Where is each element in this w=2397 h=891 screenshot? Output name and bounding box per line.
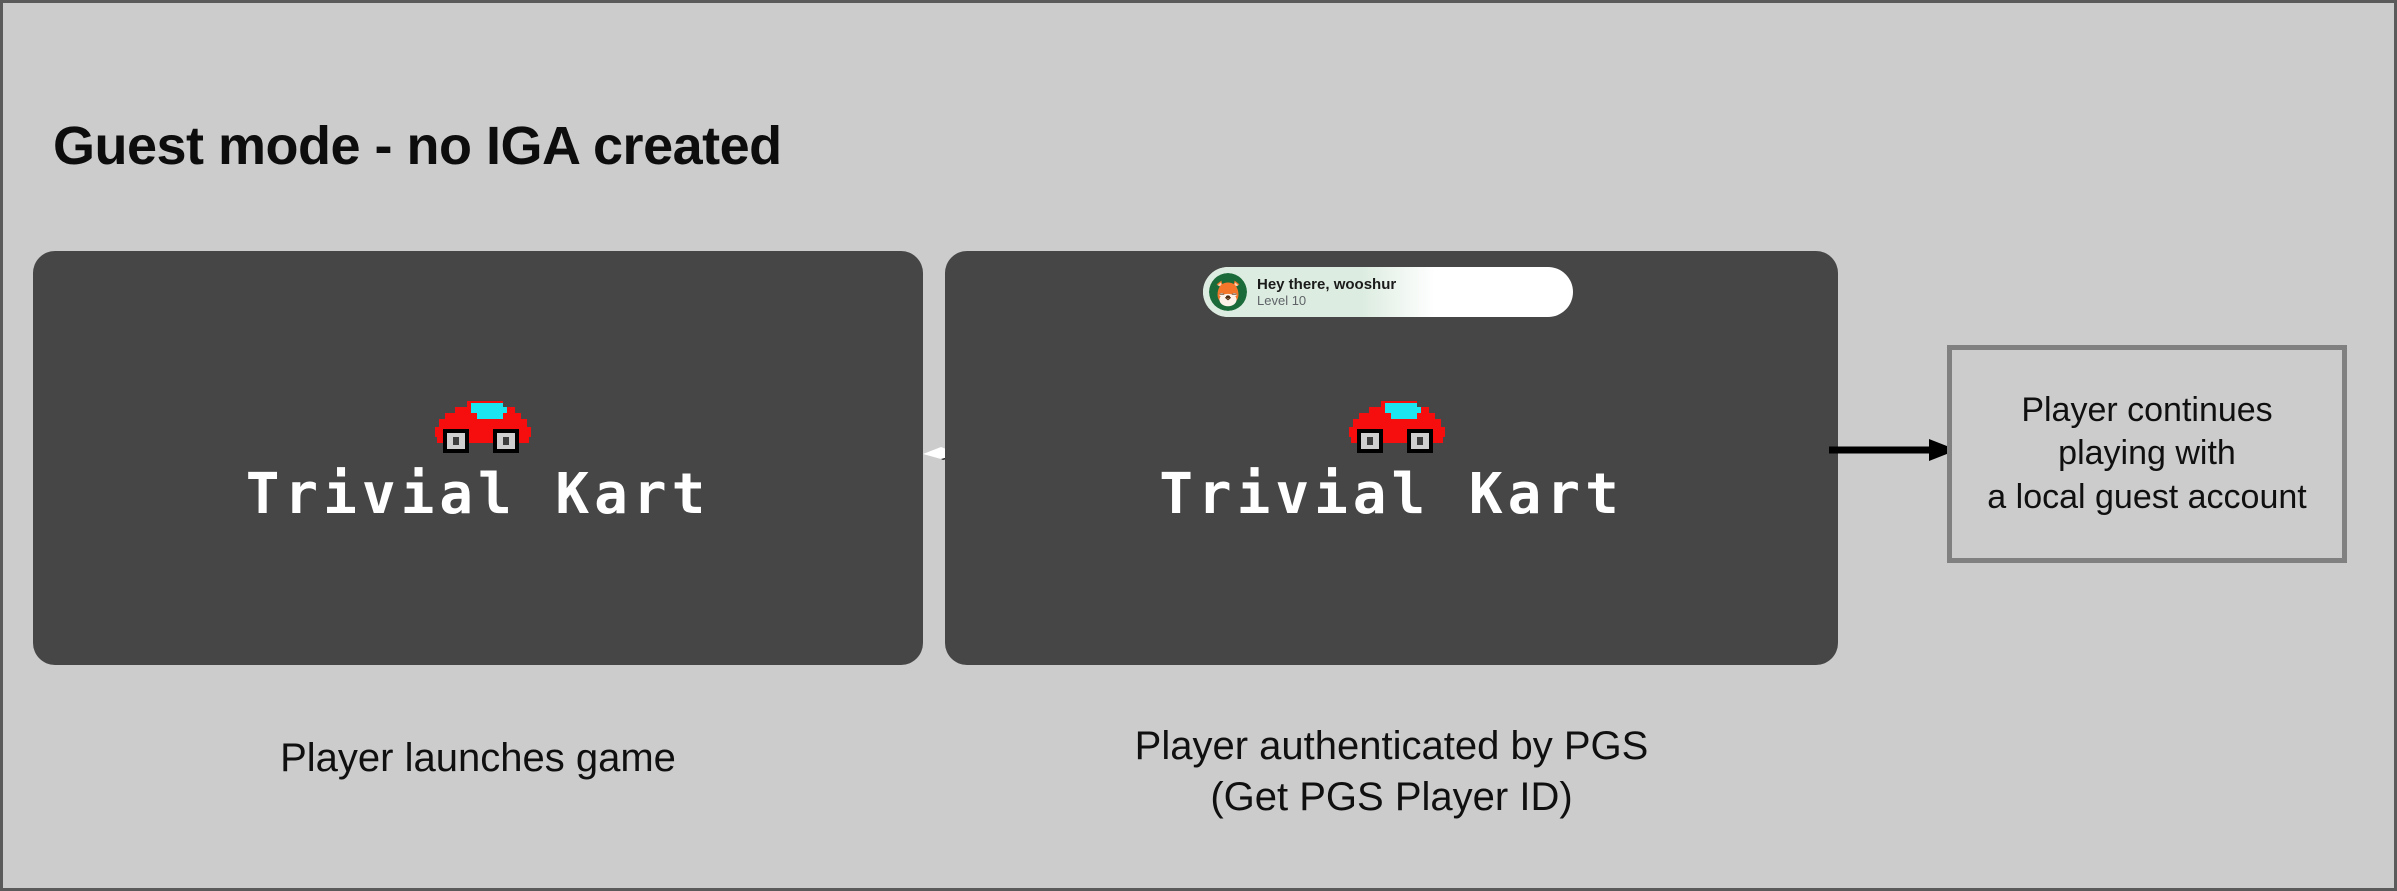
diagram-canvas: Guest mode - no IGA created xyxy=(0,0,2397,891)
game-logo-text: Trivial Kart xyxy=(246,467,711,523)
pgs-greeting-text: Hey there, wooshur xyxy=(1257,276,1396,293)
caption-player-launches-game: Player launches game xyxy=(33,733,923,784)
outcome-text: Player continues playing with a local gu… xyxy=(1983,389,2310,520)
pgs-signin-popup[interactable]: Hey there, wooshur Level 10 xyxy=(1203,267,1573,317)
pixel-car-icon xyxy=(1325,393,1459,455)
pgs-popup-text: Hey there, wooshur Level 10 xyxy=(1257,276,1396,309)
game-screen-content: Trivial Kart xyxy=(33,393,923,523)
arrow-right-icon xyxy=(1829,435,1959,465)
game-screen-launch: Trivial Kart xyxy=(33,251,923,665)
game-screen-authenticated: Hey there, wooshur Level 10 xyxy=(945,251,1838,665)
game-screen-content: Trivial Kart xyxy=(945,393,1838,523)
caption-player-authenticated: Player authenticated by PGS (Get PGS Pla… xyxy=(945,721,1838,823)
page-title: Guest mode - no IGA created xyxy=(53,115,782,177)
pixel-car-icon xyxy=(411,393,545,455)
outcome-box: Player continues playing with a local gu… xyxy=(1947,345,2347,563)
pgs-level-text: Level 10 xyxy=(1257,293,1396,309)
fox-avatar-icon xyxy=(1209,273,1247,311)
game-logo-text: Trivial Kart xyxy=(1159,467,1624,523)
